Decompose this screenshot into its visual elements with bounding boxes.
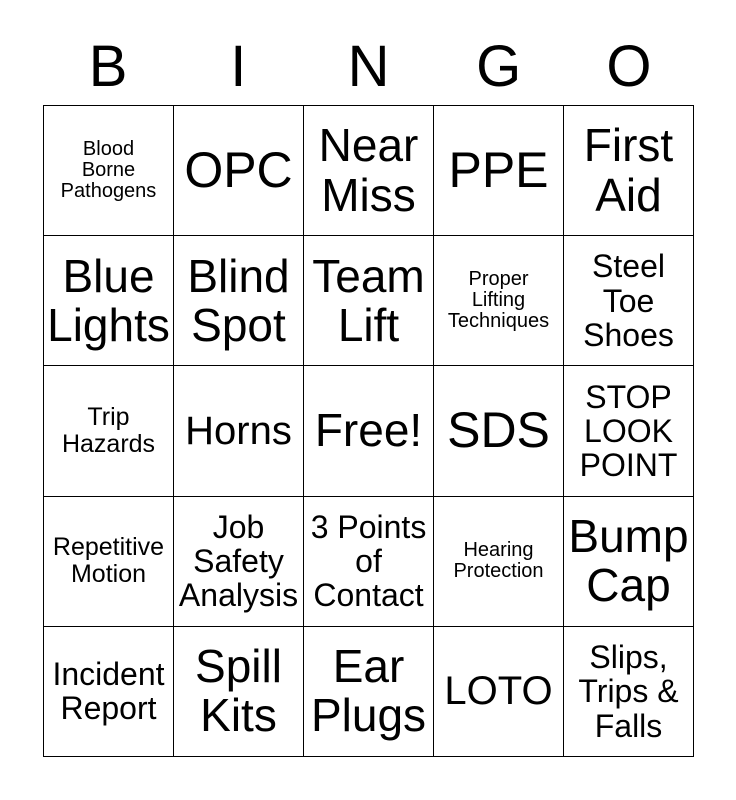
bingo-cell-r1c1[interactable]: Blood Borne Pathogens bbox=[44, 106, 174, 236]
bingo-cell-r5c3[interactable]: Ear Plugs bbox=[304, 627, 434, 757]
bingo-cell-label: First Aid bbox=[565, 121, 692, 219]
bingo-cell-label: Near Miss bbox=[305, 121, 432, 219]
bingo-cell-label: Blue Lights bbox=[45, 252, 172, 350]
bingo-cell-label: Trip Hazards bbox=[45, 404, 172, 458]
bingo-cell-r2c4[interactable]: Proper Lifting Techniques bbox=[434, 236, 564, 366]
bingo-cell-label: Horns bbox=[175, 410, 302, 453]
bingo-cell-label: Blind Spot bbox=[175, 252, 302, 350]
bingo-cell-r2c3[interactable]: Team Lift bbox=[304, 236, 434, 366]
bingo-cell-r3c2[interactable]: Horns bbox=[174, 366, 304, 496]
bingo-cell-label: Blood Borne Pathogens bbox=[45, 139, 172, 203]
bingo-cell-r1c5[interactable]: First Aid bbox=[564, 106, 694, 236]
bingo-card: B I N G O Blood Borne PathogensOPCNear M… bbox=[0, 0, 736, 800]
bingo-cell-label: Team Lift bbox=[305, 252, 432, 350]
bingo-cell-r5c4[interactable]: LOTO bbox=[434, 627, 564, 757]
header-letter-g: G bbox=[434, 28, 564, 105]
header-letter-i: I bbox=[173, 28, 303, 105]
bingo-cell-label: Hearing Protection bbox=[435, 540, 562, 583]
bingo-cell-label: PPE bbox=[435, 144, 562, 198]
bingo-cell-r1c3[interactable]: Near Miss bbox=[304, 106, 434, 236]
bingo-cell-r5c5[interactable]: Slips, Trips & Falls bbox=[564, 627, 694, 757]
header-letter-n: N bbox=[303, 28, 433, 105]
bingo-cell-label: Proper Lifting Techniques bbox=[435, 269, 562, 333]
bingo-cell-r5c2[interactable]: Spill Kits bbox=[174, 627, 304, 757]
bingo-cell-label: STOP LOOK POINT bbox=[565, 380, 692, 483]
bingo-cell-label: Spill Kits bbox=[175, 642, 302, 740]
bingo-cell-r1c4[interactable]: PPE bbox=[434, 106, 564, 236]
bingo-cell-label: Free! bbox=[305, 406, 432, 455]
bingo-cell-r4c1[interactable]: Repetitive Motion bbox=[44, 497, 174, 627]
bingo-cell-label: Job Safety Analysis bbox=[175, 510, 302, 613]
bingo-cell-r2c1[interactable]: Blue Lights bbox=[44, 236, 174, 366]
bingo-cell-label: OPC bbox=[175, 144, 302, 198]
bingo-cell-r3c1[interactable]: Trip Hazards bbox=[44, 366, 174, 496]
bingo-cell-r4c5[interactable]: Bump Cap bbox=[564, 497, 694, 627]
header-letter-o: O bbox=[564, 28, 694, 105]
bingo-cell-label: 3 Points of Contact bbox=[305, 510, 432, 613]
bingo-cell-label: Incident Report bbox=[45, 657, 172, 725]
header-letter-b: B bbox=[43, 28, 173, 105]
bingo-cell-label: Bump Cap bbox=[565, 512, 692, 610]
bingo-cell-r4c3[interactable]: 3 Points of Contact bbox=[304, 497, 434, 627]
bingo-cell-r4c2[interactable]: Job Safety Analysis bbox=[174, 497, 304, 627]
bingo-cell-label: SDS bbox=[435, 404, 562, 458]
bingo-cell-r2c5[interactable]: Steel Toe Shoes bbox=[564, 236, 694, 366]
bingo-cell-r2c2[interactable]: Blind Spot bbox=[174, 236, 304, 366]
bingo-cell-r3c4[interactable]: SDS bbox=[434, 366, 564, 496]
bingo-grid: Blood Borne PathogensOPCNear MissPPEFirs… bbox=[43, 105, 694, 757]
bingo-cell-r3c5[interactable]: STOP LOOK POINT bbox=[564, 366, 694, 496]
bingo-header: B I N G O bbox=[43, 28, 694, 105]
bingo-cell-label: Slips, Trips & Falls bbox=[565, 640, 692, 743]
bingo-cell-r4c4[interactable]: Hearing Protection bbox=[434, 497, 564, 627]
bingo-cell-r3c3[interactable]: Free! bbox=[304, 366, 434, 496]
bingo-cell-label: Ear Plugs bbox=[305, 642, 432, 740]
bingo-cell-r1c2[interactable]: OPC bbox=[174, 106, 304, 236]
bingo-cell-label: LOTO bbox=[435, 670, 562, 713]
bingo-cell-r5c1[interactable]: Incident Report bbox=[44, 627, 174, 757]
bingo-cell-label: Repetitive Motion bbox=[45, 534, 172, 588]
bingo-cell-label: Steel Toe Shoes bbox=[565, 249, 692, 352]
